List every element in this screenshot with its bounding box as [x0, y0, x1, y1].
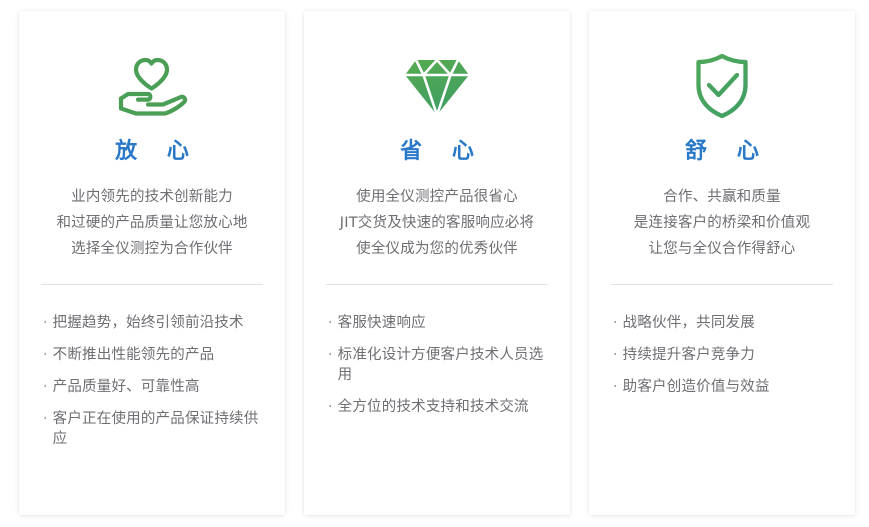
list-item-label: 助客户创造价值与效益 [623, 377, 833, 397]
bullet-dot-icon: · [43, 377, 48, 397]
bullet-dot-icon: · [613, 345, 618, 365]
diamond-icon [403, 47, 471, 125]
list-item: · 助客户创造价值与效益 [611, 371, 833, 403]
list-item-label: 把握趋势，始终引领前沿技术 [53, 313, 263, 333]
feature-cards-section: 放 心 业内领先的技术创新能力 和过硬的产品质量让您放心地 选择全仪测控为合作伙… [0, 0, 869, 527]
list-item-label: 持续提升客户竞争力 [623, 345, 833, 365]
list-item: · 战略伙伴，共同发展 [611, 307, 833, 339]
card-divider [326, 284, 548, 285]
card-bullet-list: · 把握趋势，始终引领前沿技术 · 不断推出性能领先的产品 · 产品质量好、可靠… [41, 307, 263, 455]
heart-in-hand-icon [115, 47, 189, 125]
card-description: 合作、共赢和质量 是连接客户的桥梁和价值观 让您与全仪合作得舒心 [634, 184, 810, 262]
list-item-label: 全方位的技术支持和技术交流 [338, 397, 548, 417]
bullet-dot-icon: · [43, 345, 48, 365]
feature-card-shengxin[interactable]: 省 心 使用全仪测控产品很省心 JIT交货及快速的客服响应必将 使全仪成为您的优… [304, 11, 570, 515]
list-item: · 把握趋势，始终引领前沿技术 [41, 307, 263, 339]
list-item: · 客户正在使用的产品保证持续供应 [41, 403, 263, 455]
card-description: 业内领先的技术创新能力 和过硬的产品质量让您放心地 选择全仪测控为合作伙伴 [56, 184, 247, 262]
card-bullet-list: · 客服快速响应 · 标准化设计方便客户技术人员选用 · 全方位的技术支持和技术… [326, 307, 548, 423]
feature-card-shuxin[interactable]: 舒 心 合作、共赢和质量 是连接客户的桥梁和价值观 让您与全仪合作得舒心 · 战… [589, 11, 855, 515]
list-item-label: 客服快速响应 [338, 313, 548, 333]
bullet-dot-icon: · [43, 313, 48, 333]
list-item: · 不断推出性能领先的产品 [41, 339, 263, 371]
list-item-label: 产品质量好、可靠性高 [53, 377, 263, 397]
card-title: 放 心 [104, 141, 200, 163]
list-item: · 持续提升客户竞争力 [611, 339, 833, 371]
list-item-label: 客户正在使用的产品保证持续供应 [53, 409, 263, 449]
list-item: · 标准化设计方便客户技术人员选用 [326, 339, 548, 391]
bullet-dot-icon: · [328, 345, 333, 365]
card-divider [611, 284, 833, 285]
list-item-label: 标准化设计方便客户技术人员选用 [338, 345, 548, 385]
shield-check-icon [687, 47, 757, 125]
list-item: · 产品质量好、可靠性高 [41, 371, 263, 403]
bullet-dot-icon: · [613, 377, 618, 397]
bullet-dot-icon: · [613, 313, 618, 333]
card-divider [41, 284, 263, 285]
bullet-dot-icon: · [328, 313, 333, 333]
card-bullet-list: · 战略伙伴，共同发展 · 持续提升客户竞争力 · 助客户创造价值与效益 [611, 307, 833, 403]
list-item: · 客服快速响应 [326, 307, 548, 339]
card-title: 舒 心 [674, 141, 770, 163]
card-title: 省 心 [389, 141, 485, 163]
list-item-label: 不断推出性能领先的产品 [53, 345, 263, 365]
bullet-dot-icon: · [43, 409, 48, 429]
list-item: · 全方位的技术支持和技术交流 [326, 391, 548, 423]
feature-card-fangxin[interactable]: 放 心 业内领先的技术创新能力 和过硬的产品质量让您放心地 选择全仪测控为合作伙… [19, 11, 285, 515]
bullet-dot-icon: · [328, 397, 333, 417]
card-description: 使用全仪测控产品很省心 JIT交货及快速的客服响应必将 使全仪成为您的优秀伙伴 [340, 184, 534, 262]
list-item-label: 战略伙伴，共同发展 [623, 313, 833, 333]
